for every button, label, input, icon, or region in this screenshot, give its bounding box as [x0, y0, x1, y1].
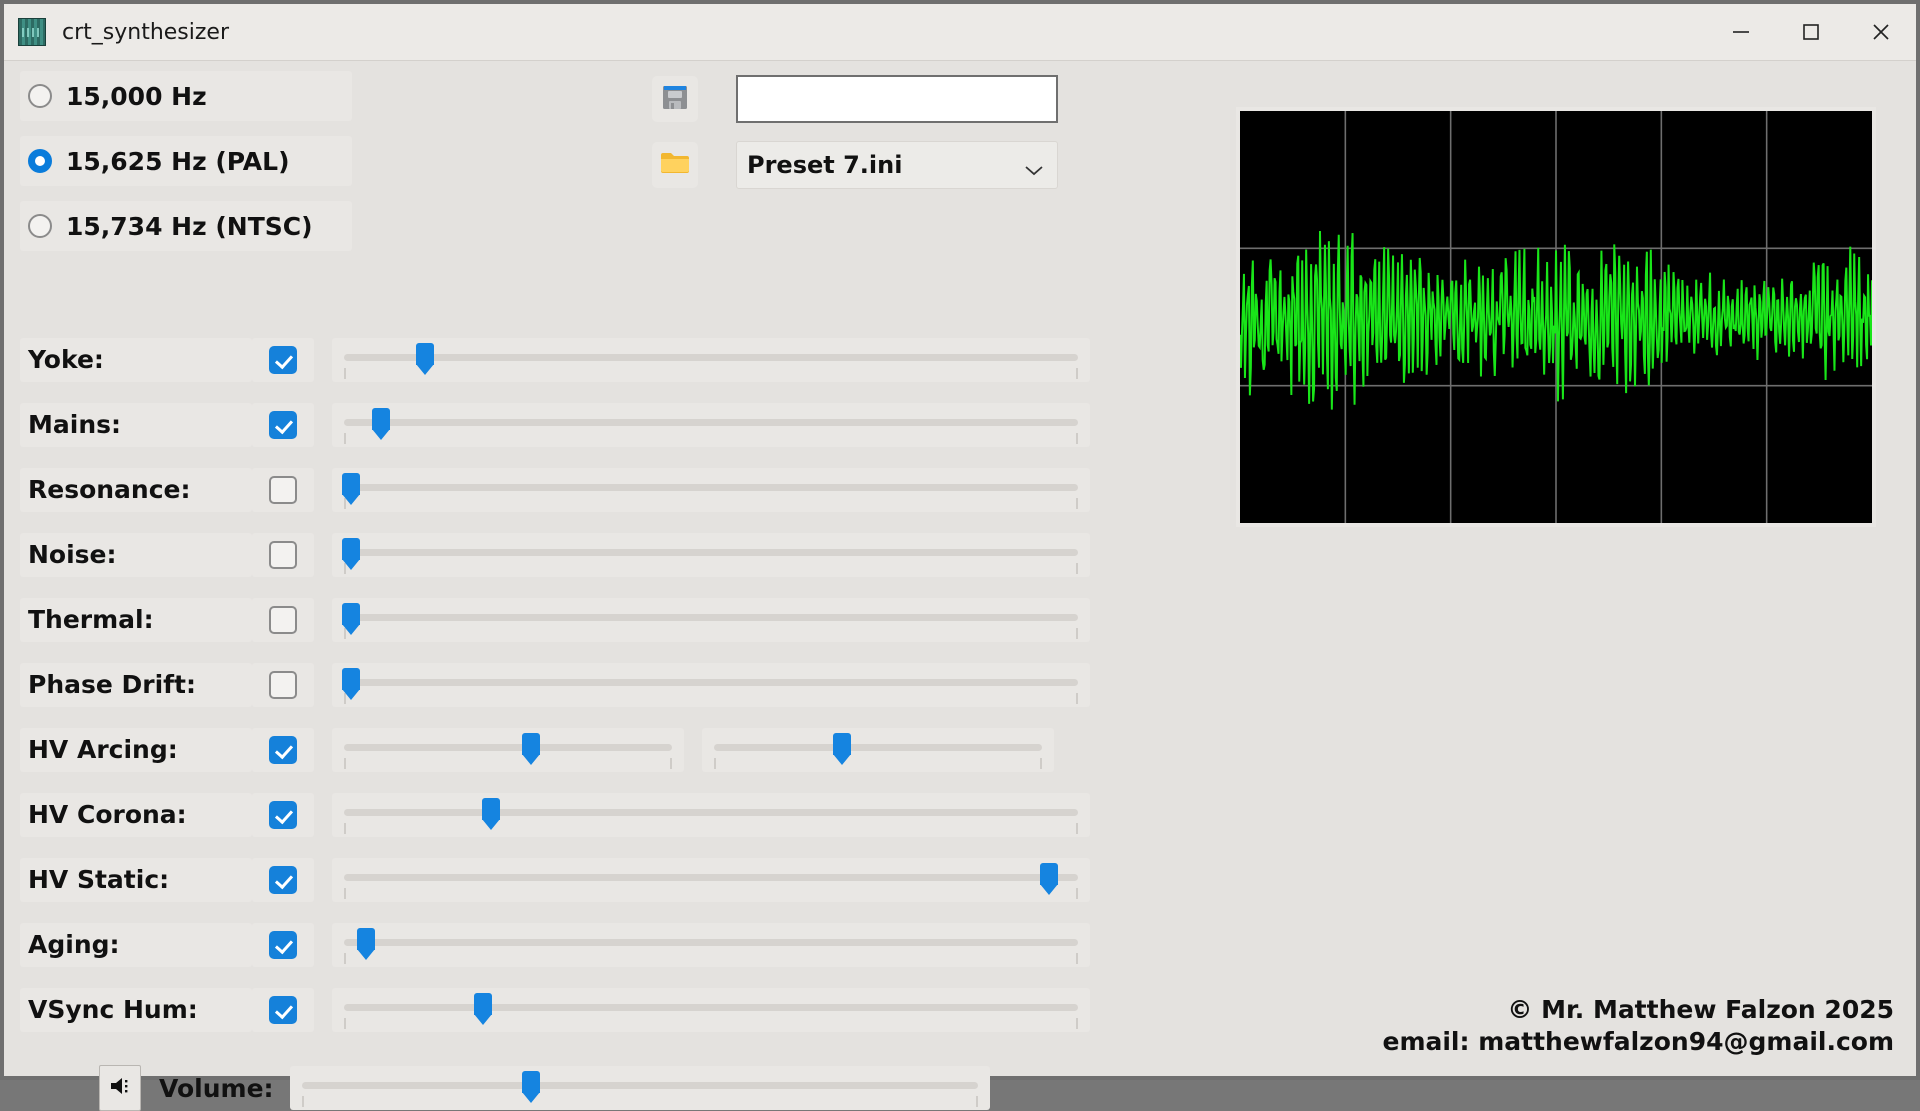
- parameter-checkbox-cell[interactable]: [252, 923, 314, 967]
- preset-select-value: Preset 7.ini: [747, 151, 902, 179]
- parameter-label: Noise:: [20, 533, 252, 577]
- parameter-label: HV Corona:: [20, 793, 252, 837]
- slider-groove: [344, 614, 1078, 621]
- parameter-row-phase-drift: Phase Drift:: [20, 658, 1090, 711]
- frequency-option-label: 15,625 Hz (PAL): [66, 147, 290, 176]
- parameter-row-noise: Noise:: [20, 528, 1090, 581]
- parameter-row-thermal: Thermal:: [20, 593, 1090, 646]
- checkbox-icon[interactable]: [269, 931, 297, 959]
- maximize-button[interactable]: [1776, 4, 1846, 60]
- parameter-row-hv-static: HV Static:: [20, 853, 1090, 906]
- slider-tick-min: [344, 888, 346, 899]
- slider-groove: [714, 744, 1042, 751]
- slider-tick-min: [344, 953, 346, 964]
- slider-handle[interactable]: [522, 733, 540, 755]
- slider-handle[interactable]: [342, 603, 360, 625]
- parameter-checkbox-cell[interactable]: [252, 403, 314, 447]
- slider-groove: [344, 549, 1078, 556]
- slider-tick-max: [1040, 758, 1042, 769]
- parameter-label: Aging:: [20, 923, 252, 967]
- parameter-checkbox-cell[interactable]: [252, 858, 314, 902]
- volume-label: Volume:: [159, 1074, 274, 1103]
- slider-groove: [344, 809, 1078, 816]
- slider-handle[interactable]: [482, 798, 500, 820]
- checkbox-icon[interactable]: [269, 541, 297, 569]
- parameter-row-yoke: Yoke:: [20, 333, 1090, 386]
- parameter-checkbox-cell[interactable]: [252, 663, 314, 707]
- slider-tick-max: [1076, 953, 1078, 964]
- slider-tick-max: [1076, 1018, 1078, 1029]
- window-title: crt_synthesizer: [62, 20, 229, 45]
- slider-handle[interactable]: [833, 733, 851, 755]
- checkbox-icon[interactable]: [269, 346, 297, 374]
- frequency-option-15000[interactable]: 15,000 Hz: [20, 71, 352, 121]
- slider-groove: [344, 744, 672, 751]
- slider-groove: [344, 484, 1078, 491]
- checkbox-icon[interactable]: [269, 801, 297, 829]
- checkbox-icon[interactable]: [269, 606, 297, 634]
- slider-tick-min: [714, 758, 716, 769]
- radio-icon[interactable]: [28, 84, 52, 108]
- preset-select[interactable]: Preset 7.ini: [736, 141, 1058, 189]
- preset-load-row: Preset 7.ini: [652, 141, 1072, 189]
- parameter-label: HV Static:: [20, 858, 252, 902]
- parameter-label: Yoke:: [20, 338, 252, 382]
- slider-tick-max: [1076, 433, 1078, 444]
- slider-tick-max: [976, 1096, 978, 1107]
- floppy-disk-icon: [660, 82, 690, 116]
- parameter-row-mains: Mains:: [20, 398, 1090, 451]
- folder-icon: [659, 149, 691, 181]
- parameter-checkbox-cell[interactable]: [252, 533, 314, 577]
- preset-filename-input[interactable]: [736, 75, 1058, 123]
- parameter-slider-rate[interactable]: [332, 728, 684, 772]
- radio-icon[interactable]: [28, 214, 52, 238]
- slider-groove: [344, 679, 1078, 686]
- crt-app-icon: [18, 18, 46, 46]
- slider-handle[interactable]: [342, 668, 360, 690]
- parameter-rows: Yoke: Mains:: [20, 333, 1090, 1048]
- parameter-label: VSync Hum:: [20, 988, 252, 1032]
- volume-row: Volume:: [99, 1065, 990, 1111]
- checkbox-icon[interactable]: [269, 736, 297, 764]
- parameter-slider[interactable]: [332, 663, 1090, 707]
- application-window: crt_synthesizer 15,000 Hz 15,625 Hz (PAL…: [0, 0, 1920, 1080]
- oscilloscope-display: [1240, 111, 1872, 523]
- slider-handle[interactable]: [342, 538, 360, 560]
- parameter-row-vsync-hum: VSync Hum:: [20, 983, 1090, 1036]
- slider-tick-max: [1076, 823, 1078, 834]
- slider-handle[interactable]: [1040, 863, 1058, 885]
- parameter-checkbox-cell[interactable]: [252, 598, 314, 642]
- title-bar: crt_synthesizer: [4, 4, 1916, 61]
- slider-tick-min: [344, 368, 346, 379]
- preset-panel: Preset 7.ini: [652, 75, 1072, 207]
- slider-tick-min: [344, 758, 346, 769]
- parameter-slider[interactable]: [332, 598, 1090, 642]
- slider-tick-max: [1076, 888, 1078, 899]
- slider-tick-min: [344, 1018, 346, 1029]
- parameter-row-aging: Aging:: [20, 918, 1090, 971]
- parameter-checkbox-cell[interactable]: [252, 338, 314, 382]
- slider-handle[interactable]: [474, 993, 492, 1015]
- parameter-label: HV Arcing:: [20, 728, 252, 772]
- frequency-option-ntsc[interactable]: 15,734 Hz (NTSC): [20, 201, 352, 251]
- parameter-label: Mains:: [20, 403, 252, 447]
- slider-groove: [344, 874, 1078, 881]
- email-text: email: matthewfalzon94@gmail.com: [1382, 1026, 1894, 1058]
- volume-slider[interactable]: [290, 1066, 990, 1110]
- slider-groove: [344, 419, 1078, 426]
- parameter-slider[interactable]: [332, 403, 1090, 447]
- parameter-row-hv-arcing: HV Arcing:: [20, 723, 1090, 776]
- slider-handle[interactable]: [522, 1071, 540, 1093]
- parameter-slider[interactable]: [332, 338, 1090, 382]
- parameter-label: Phase Drift:: [20, 663, 252, 707]
- parameter-slider[interactable]: [332, 793, 1090, 837]
- parameter-checkbox-cell[interactable]: [252, 793, 314, 837]
- checkbox-icon[interactable]: [269, 866, 297, 894]
- credit-block: © Mr. Matthew Falzon 2025 email: matthew…: [1382, 994, 1894, 1058]
- parameter-label: Thermal:: [20, 598, 252, 642]
- slider-tick-min: [344, 823, 346, 834]
- checkbox-icon[interactable]: [269, 996, 297, 1024]
- open-preset-button[interactable]: [652, 142, 698, 188]
- parameter-checkbox-cell[interactable]: [252, 728, 314, 772]
- window-controls: [1706, 4, 1916, 60]
- radio-icon[interactable]: [28, 149, 52, 173]
- slider-handle[interactable]: [357, 928, 375, 950]
- parameter-checkbox-cell[interactable]: [252, 468, 314, 512]
- slider-tick-min: [302, 1096, 304, 1107]
- parameter-slider[interactable]: [332, 988, 1090, 1032]
- main-content: 15,000 Hz 15,625 Hz (PAL) 15,734 Hz (NTS…: [4, 61, 1916, 1076]
- preset-save-row: [652, 75, 1072, 123]
- checkbox-icon[interactable]: [269, 671, 297, 699]
- parameter-row-resonance: Resonance:: [20, 463, 1090, 516]
- parameter-label: Resonance:: [20, 468, 252, 512]
- checkbox-icon[interactable]: [269, 411, 297, 439]
- slider-tick-max: [1076, 693, 1078, 704]
- slider-groove: [302, 1082, 978, 1089]
- mute-button[interactable]: [99, 1065, 141, 1111]
- parameter-slider-intensity[interactable]: [702, 728, 1054, 772]
- save-preset-button[interactable]: [652, 76, 698, 122]
- parameter-row-hv-corona: HV Corona:: [20, 788, 1090, 841]
- frequency-option-pal[interactable]: 15,625 Hz (PAL): [20, 136, 352, 186]
- close-button[interactable]: [1846, 4, 1916, 60]
- waveform-svg: [1240, 111, 1872, 523]
- parameter-slider[interactable]: [332, 923, 1090, 967]
- slider-groove: [344, 354, 1078, 361]
- speaker-icon: [107, 1073, 133, 1103]
- checkbox-icon[interactable]: [269, 476, 297, 504]
- frequency-option-label: 15,000 Hz: [66, 82, 207, 111]
- parameter-checkbox-cell[interactable]: [252, 988, 314, 1032]
- minimize-button[interactable]: [1706, 4, 1776, 60]
- chevron-down-icon: [1025, 161, 1043, 180]
- slider-tick-max: [1076, 498, 1078, 509]
- slider-handle[interactable]: [416, 343, 434, 365]
- slider-handle[interactable]: [342, 473, 360, 495]
- slider-tick-max: [1076, 368, 1078, 379]
- copyright-text: © Mr. Matthew Falzon 2025: [1382, 994, 1894, 1026]
- slider-groove: [344, 939, 1078, 946]
- oscilloscope-panel: [1236, 107, 1876, 527]
- slider-groove: [344, 1004, 1078, 1011]
- parameter-slider[interactable]: [332, 533, 1090, 577]
- frequency-option-label: 15,734 Hz (NTSC): [66, 212, 313, 241]
- slider-handle[interactable]: [372, 408, 390, 430]
- parameter-slider[interactable]: [332, 858, 1090, 902]
- parameter-slider[interactable]: [332, 468, 1090, 512]
- slider-tick-max: [1076, 628, 1078, 639]
- slider-tick-max: [670, 758, 672, 769]
- slider-tick-max: [1076, 563, 1078, 574]
- slider-tick-min: [344, 433, 346, 444]
